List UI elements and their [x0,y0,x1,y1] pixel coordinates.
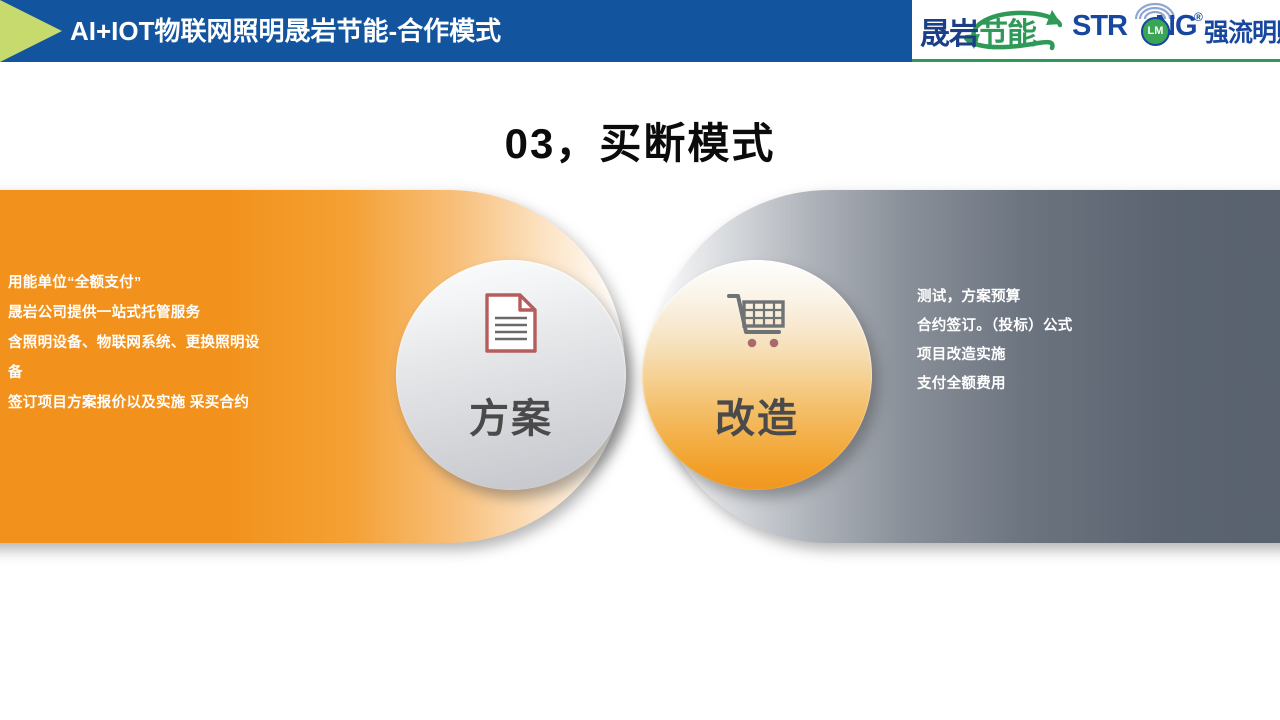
slide-canvas: AI+IOT物联网照明晟岩节能-合作模式 晟岩节能 STRNG LM ® 强流明… [0,0,1280,720]
registered-trademark-icon: ® [1194,10,1203,24]
document-icon-wrap [396,292,626,359]
logo-lm-badge: LM [1141,17,1170,46]
retrofit-sphere-label: 改造 [642,386,872,444]
logo-strong-wordmark: STRNG [1072,10,1197,43]
right-panel-line: 支付全额费用 [917,370,1247,399]
page-title: 03，买断模式 [0,110,1280,171]
left-panel-line: 签订项目方案报价以及实施 采买合约 [8,388,353,418]
shopping-cart-icon-wrap [642,292,872,355]
logo-tagline: 强流明照明 [1204,13,1280,49]
left-panel-line: 晟岩公司提供一站式托管服务 [8,298,353,328]
plan-sphere-label: 方案 [396,386,626,444]
left-panel-line: 含照明设备、物联网系统、更换照明设 [8,328,353,358]
retrofit-sphere[interactable]: 改造 [642,260,872,490]
left-panel-text-block: 用能单位“全额支付” 晟岩公司提供一站式托管服务 含照明设备、物联网系统、更换照… [8,268,353,418]
right-panel-line: 项目改造实施 [917,341,1247,370]
document-icon [484,292,538,354]
plan-sphere[interactable]: 方案 [396,260,626,490]
chevron-right-icon [0,0,62,62]
header-title: AI+IOT物联网照明晟岩节能-合作模式 [70,11,501,51]
left-panel-line: 备 [8,358,353,388]
right-panel-text-block: 测试，方案预算 合约签订。（投标）公式 项目改造实施 支付全额费用 [917,283,1247,399]
logo-brand-green: 节能 [978,18,1036,51]
logo-brand-chinese: 晟岩节能 [920,9,1036,53]
right-panel-line: 测试，方案预算 [917,283,1247,312]
logo-strong-prefix: STR [1072,10,1127,42]
left-panel-line: 用能单位“全额支付” [8,268,353,298]
company-logo: 晟岩节能 STRNG LM ® 强流明照明 [912,0,1280,62]
shopping-cart-icon [727,292,787,350]
logo-brand-blue: 晟岩 [920,18,978,51]
right-panel-line: 合约签订。（投标）公式 [917,312,1247,341]
